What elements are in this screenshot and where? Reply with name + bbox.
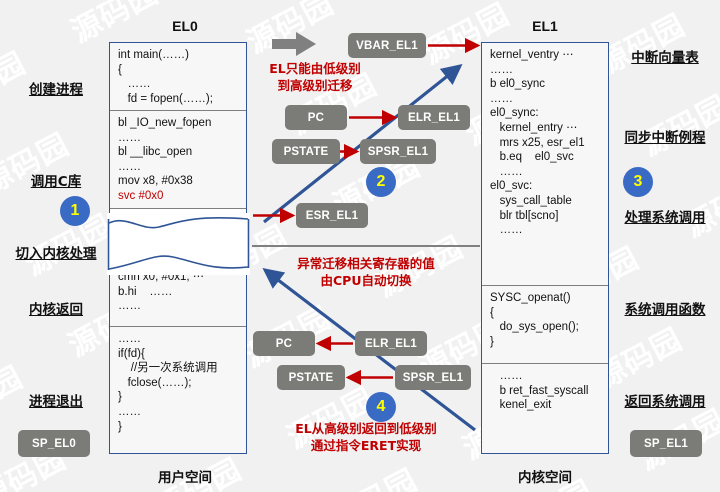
left-label-3: 内核返回 bbox=[6, 298, 106, 318]
code-line: kernel_entry ⋯ bbox=[490, 121, 601, 136]
code-line: //另一次系统调用 bbox=[118, 361, 239, 376]
left-label-4: 进程退出 bbox=[6, 390, 106, 410]
code-line: svc #0x0 bbox=[118, 189, 239, 204]
register-upper-pc: PC bbox=[285, 105, 347, 130]
right-label-4: 返回系统调用 bbox=[614, 390, 716, 410]
el1-section-1: SYSC_openat(){ do_sys_open();} bbox=[482, 286, 608, 364]
kernel-space-title: 内核空间 bbox=[480, 466, 610, 486]
register-lower-spsr_el1: SPSR_EL1 bbox=[395, 365, 471, 390]
right-label-1: 同步中断例程 bbox=[614, 126, 716, 146]
el1-title: EL1 bbox=[480, 18, 610, 34]
code-line: { bbox=[490, 306, 601, 321]
code-line: …… bbox=[118, 332, 239, 347]
left-label-0: 创建进程 bbox=[6, 78, 106, 98]
register-lower-pstate: PSTATE bbox=[277, 365, 345, 390]
el0-section-1: bl _IO_new_fopen……bl __libc_open……mov x8… bbox=[110, 111, 246, 209]
register-upper-esr_el1: ESR_EL1 bbox=[296, 203, 368, 228]
el0-title: EL0 bbox=[120, 18, 250, 34]
code-line: if(fd){ bbox=[118, 347, 239, 362]
step-circle-2: 2 bbox=[366, 167, 396, 197]
code-line: blr tbl[scno] bbox=[490, 209, 601, 224]
code-line: kenel_exit bbox=[490, 398, 601, 413]
user-space-title: 用户空间 bbox=[120, 466, 250, 486]
code-line: { bbox=[118, 63, 239, 78]
code-line: …… bbox=[118, 131, 239, 146]
code-line: } bbox=[118, 390, 239, 405]
code-line: do_sys_open(); bbox=[490, 320, 601, 335]
el1-section-2: …… b ret_fast_syscall kenel_exit bbox=[482, 364, 608, 453]
code-line: …… bbox=[118, 160, 239, 175]
code-line: mrs x25, esr_el1 bbox=[490, 136, 601, 151]
annotation-upper: EL只能由低级别 到高级别迁移 bbox=[240, 60, 390, 94]
code-line: b.hi …… bbox=[118, 285, 239, 300]
code-line: sys_call_table bbox=[490, 194, 601, 209]
code-line: bl _IO_new_fopen bbox=[118, 116, 239, 131]
torn-paper-break bbox=[107, 213, 250, 275]
step-circle-1: 1 bbox=[60, 196, 90, 226]
register-upper-elr_el1: ELR_EL1 bbox=[398, 105, 470, 130]
el0-section-0: int main(……){ …… fd = fopen(……); bbox=[110, 43, 246, 111]
left-label-1: 调用C库 bbox=[6, 170, 106, 190]
right-label-3: 系统调用函数 bbox=[614, 298, 716, 318]
watermark-tile: 源码园 bbox=[0, 89, 114, 241]
register-upper-vbar_el1: VBAR_EL1 bbox=[348, 33, 426, 58]
watermark-tile: 源码园 bbox=[595, 365, 720, 492]
register-upper-pstate: PSTATE bbox=[272, 139, 340, 164]
register-upper-spsr_el1: SPSR_EL1 bbox=[360, 139, 436, 164]
register-lower-pc: PC bbox=[253, 331, 315, 356]
code-line: bl __libc_open bbox=[118, 145, 239, 160]
right-label-2: 处理系统调用 bbox=[614, 206, 716, 226]
code-line: fd = fopen(……); bbox=[118, 92, 239, 107]
watermark-tile: 源码园 bbox=[684, 214, 720, 366]
gray-block-arrow bbox=[272, 32, 316, 56]
step-circle-4: 4 bbox=[366, 392, 396, 422]
watermark-tile: 源码园 bbox=[160, 0, 336, 19]
el1-code-box: kernel_ventry ⋯……b el0_sync……el0_sync: k… bbox=[481, 42, 609, 454]
el0-section-3: ……if(fd){ //另一次系统调用 fclose(……);}……} bbox=[110, 327, 246, 453]
code-line: SYSC_openat() bbox=[490, 291, 601, 306]
register-sp-el1: SP_EL1 bbox=[630, 430, 702, 457]
code-line: …… bbox=[490, 369, 601, 384]
code-line: …… bbox=[118, 405, 239, 420]
middle-divider bbox=[252, 245, 480, 247]
code-line: …… bbox=[490, 223, 601, 238]
code-line: b.eq el0_svc bbox=[490, 150, 601, 165]
code-line: …… bbox=[490, 63, 601, 78]
code-line: int main(……) bbox=[118, 48, 239, 63]
register-lower-elr_el1: ELR_EL1 bbox=[355, 331, 427, 356]
code-line: …… bbox=[118, 77, 239, 92]
code-line: el0_sync: bbox=[490, 106, 601, 121]
code-line: …… bbox=[490, 165, 601, 180]
code-line: el0_svc: bbox=[490, 179, 601, 194]
code-line: …… bbox=[118, 299, 239, 314]
annotation-middle: 异常迁移相关寄存器的值 由CPU自动切换 bbox=[256, 255, 476, 289]
code-line: b ret_fast_syscall bbox=[490, 384, 601, 399]
code-line: kernel_ventry ⋯ bbox=[490, 48, 601, 63]
right-label-0: 中断向量表 bbox=[614, 46, 716, 66]
annotation-lower: EL从高级别返回到低级别 通过指令ERET实现 bbox=[256, 420, 476, 454]
register-sp-el0: SP_EL0 bbox=[18, 430, 90, 457]
code-line: } bbox=[118, 420, 239, 435]
code-line: mov x8, #0x38 bbox=[118, 174, 239, 189]
left-label-2: 切入内核处理 bbox=[6, 242, 106, 262]
el1-section-0: kernel_ventry ⋯……b el0_sync……el0_sync: k… bbox=[482, 43, 608, 286]
code-line: …… bbox=[490, 92, 601, 107]
code-line: fclose(……); bbox=[118, 376, 239, 391]
step-circle-3: 3 bbox=[623, 167, 653, 197]
code-line: } bbox=[490, 335, 601, 350]
code-line: b el0_sync bbox=[490, 77, 601, 92]
